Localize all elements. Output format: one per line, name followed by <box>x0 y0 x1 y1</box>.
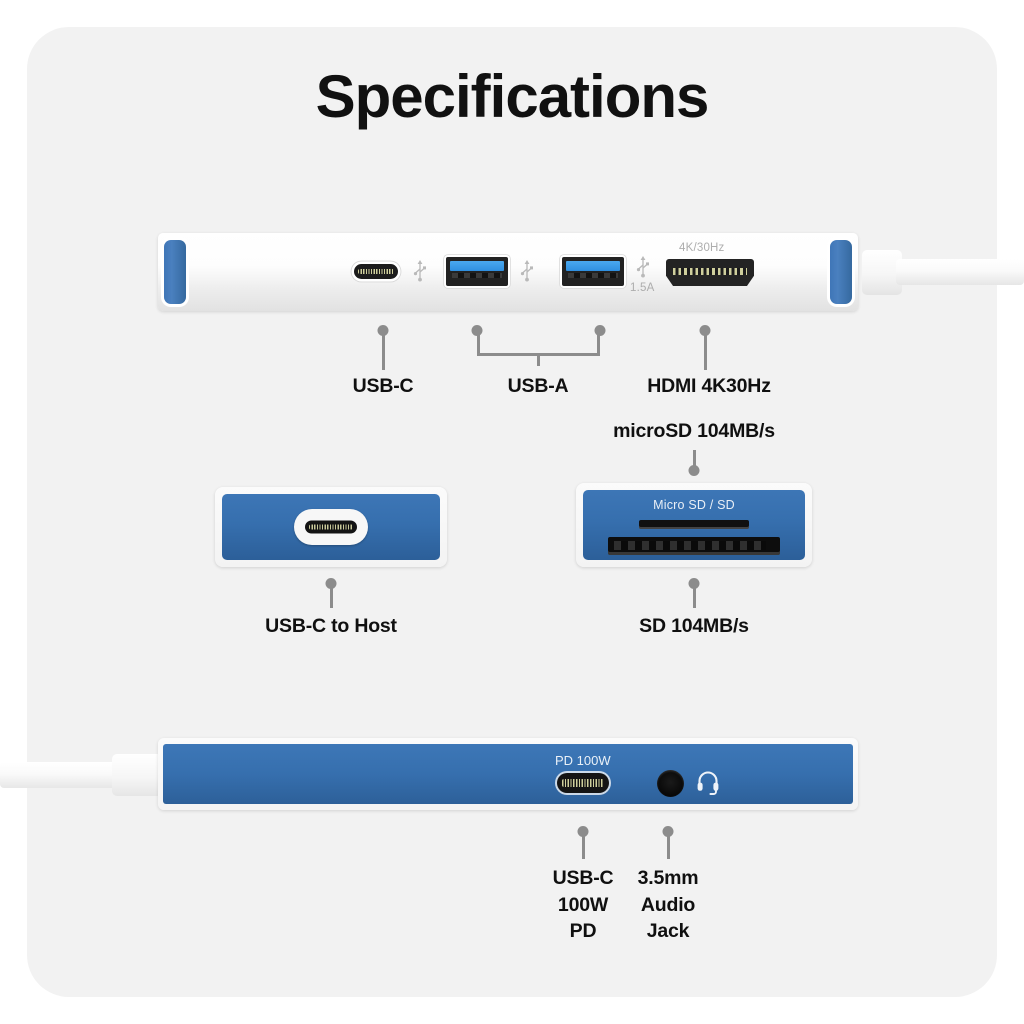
module-usb-c-host <box>215 487 447 567</box>
callout-usb-c-pd: USB-C 100W PD <box>553 865 614 945</box>
port-usb-c-pd[interactable] <box>557 773 609 793</box>
callout-pd-line-1: USB-C <box>553 865 614 892</box>
leader-line-host <box>330 583 333 608</box>
module-host-face <box>222 494 440 560</box>
module-card-reader: Micro SD / SD <box>576 483 812 567</box>
cable-top-right <box>896 259 1024 285</box>
port-usb-a-2[interactable] <box>562 257 624 286</box>
usb-a-pins <box>452 273 502 278</box>
cable-bottom-left <box>0 762 122 788</box>
pd-silk-label: PD 100W <box>555 753 611 768</box>
callout-usb-c-to-host: USB-C to Host <box>265 615 397 638</box>
callout-pd-line-2: 100W <box>553 892 614 919</box>
leader-bracket-usb-a <box>477 330 600 356</box>
callout-audio-line-1: 3.5mm <box>638 865 699 892</box>
usb-a-tongue <box>566 261 620 271</box>
endcap-right <box>830 240 852 304</box>
cable-strain-relief-bottom <box>112 754 162 796</box>
callout-audio-jack: 3.5mm Audio Jack <box>638 865 699 945</box>
usb-trident-icon-2 <box>520 259 534 288</box>
page-title: Specifications <box>0 62 1024 131</box>
port-usb-c-host[interactable] <box>294 509 368 545</box>
leader-dot-microsd <box>689 465 700 476</box>
usb-trident-icon-1 <box>413 259 427 288</box>
headphone-icon <box>695 769 721 800</box>
callout-usb-c: USB-C <box>353 375 414 398</box>
usb-trident-icon-3 <box>636 255 650 284</box>
slot-sd[interactable] <box>608 537 780 555</box>
specifications-diagram: Specifications <box>0 0 1024 1024</box>
sd-silk-label: Micro SD / SD <box>583 498 805 512</box>
leader-line-usb-c <box>382 330 385 370</box>
callout-usb-a: USB-A <box>508 375 569 398</box>
hdmi-pins <box>673 268 747 275</box>
usb-a-pins <box>568 273 618 278</box>
leader-line-audio <box>667 831 670 859</box>
endcap-left <box>164 240 186 304</box>
leader-line-hdmi <box>704 330 707 370</box>
leader-line-sd <box>693 583 696 608</box>
callout-microsd: microSD 104MB/s <box>613 420 775 443</box>
slot-microsd[interactable] <box>639 520 749 529</box>
device-bottom-edge: PD 100W <box>158 738 858 810</box>
callout-sd: SD 104MB/s <box>639 615 749 638</box>
callout-pd-line-3: PD <box>553 918 614 945</box>
port-usb-a-1[interactable] <box>446 257 508 286</box>
port-hdmi[interactable] <box>666 259 754 286</box>
callout-audio-line-3: Jack <box>638 918 699 945</box>
hdmi-rate-label: 4K/30Hz <box>679 242 725 254</box>
port-usb-c-top[interactable] <box>354 264 398 279</box>
bottom-face: PD 100W <box>163 744 853 804</box>
leader-stem-usb-a <box>537 356 540 366</box>
module-sd-face: Micro SD / SD <box>583 490 805 560</box>
leader-line-pd <box>582 831 585 859</box>
usb-c-host-pins <box>309 525 353 530</box>
callout-hdmi: HDMI 4K30Hz <box>647 375 771 398</box>
callout-audio-line-2: Audio <box>638 892 699 919</box>
port-audio-jack[interactable] <box>657 770 684 797</box>
content-card <box>27 27 997 997</box>
device-top-edge: 1.5A 4K/30Hz <box>158 233 858 311</box>
usb-a-tongue <box>450 261 504 271</box>
usba-current-label: 1.5A <box>630 282 654 294</box>
